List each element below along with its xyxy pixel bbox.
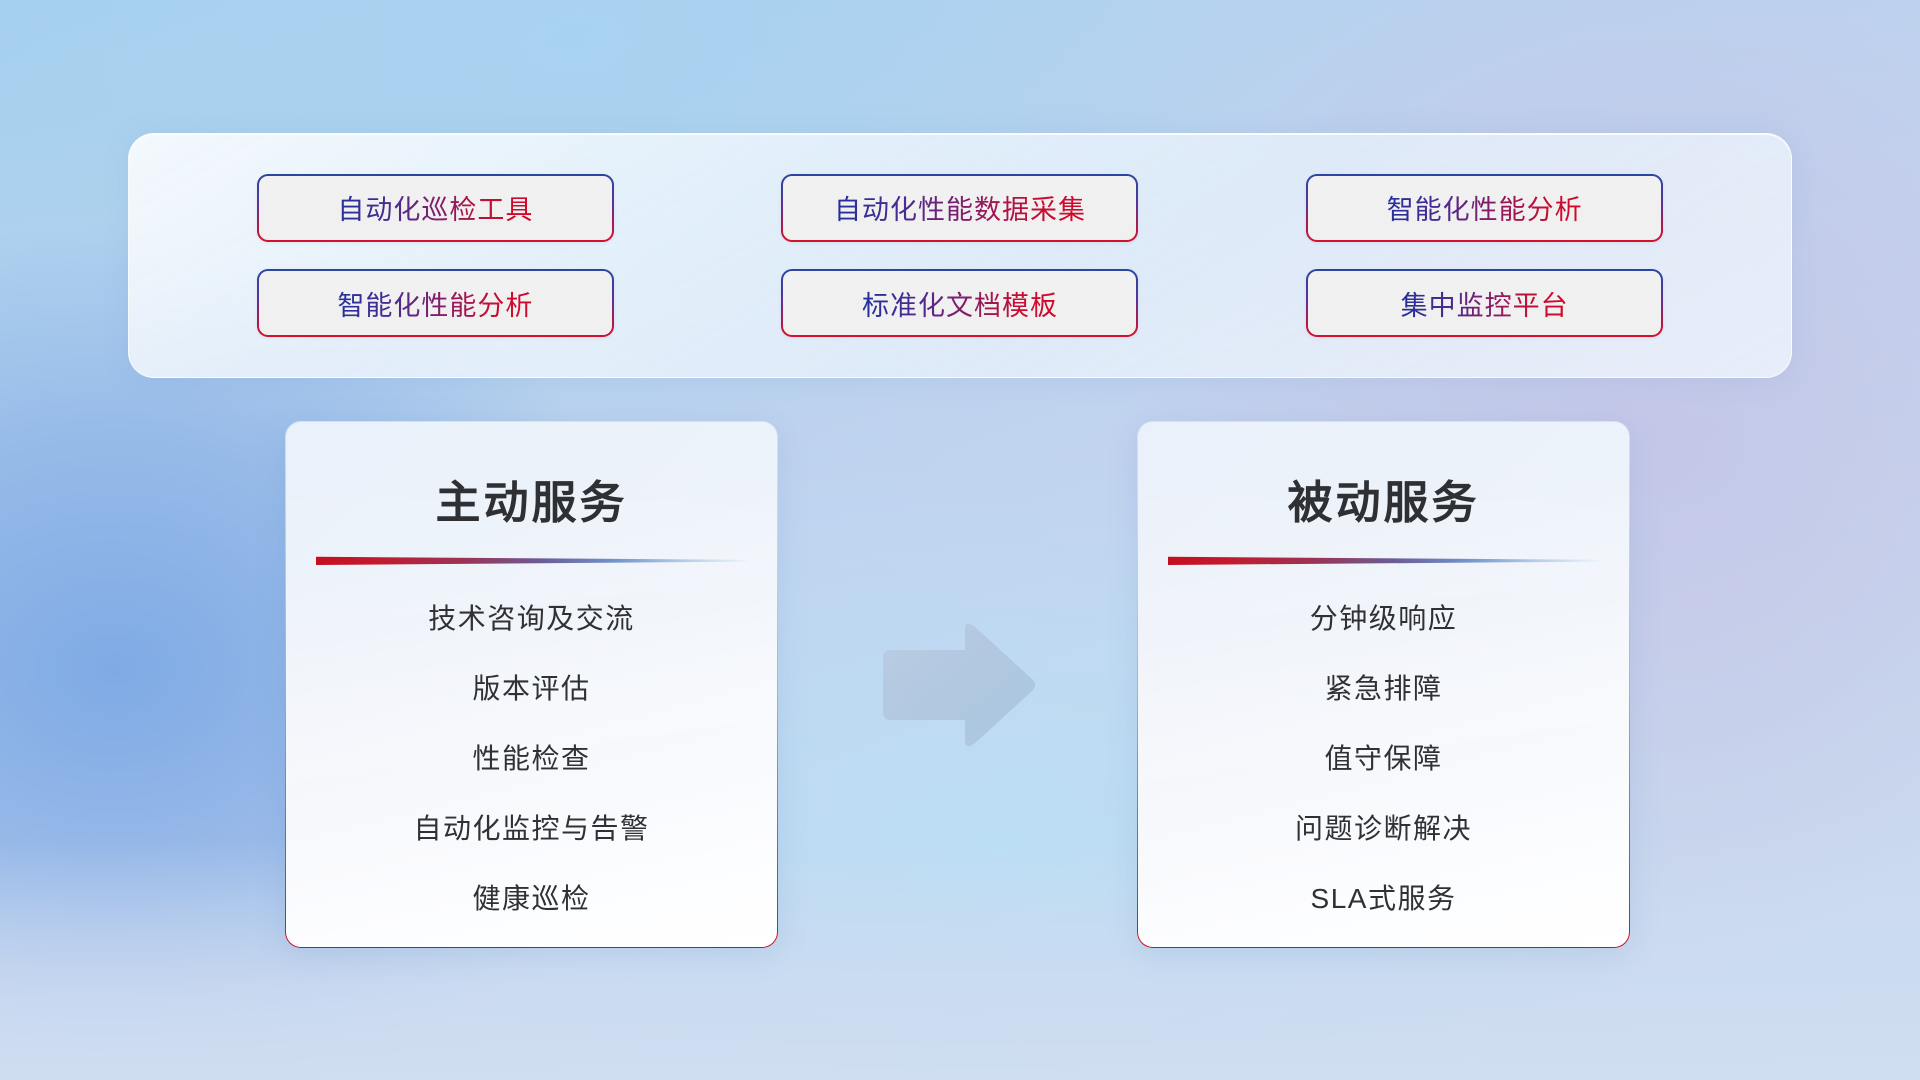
capability-tag[interactable]: 自动化性能数据采集 xyxy=(781,174,1138,242)
capability-tag[interactable]: 标准化文档模板 xyxy=(781,269,1138,337)
capability-tag[interactable]: 智能化性能分析 xyxy=(257,269,614,337)
list-item: 自动化监控与告警 xyxy=(286,815,777,885)
capability-tag-grid: 自动化巡检工具 自动化性能数据采集 智能化性能分析 智能化性能分析 标准化文档模… xyxy=(129,134,1791,377)
capability-tag-label: 智能化性能分析 xyxy=(1387,188,1583,227)
capability-tag[interactable]: 智能化性能分析 xyxy=(1306,174,1663,242)
card-divider-bar xyxy=(1168,555,1600,565)
capability-tag[interactable]: 集中监控平台 xyxy=(1306,269,1663,337)
card-title: 主动服务 xyxy=(286,422,777,531)
capability-tag-label: 自动化性能数据采集 xyxy=(834,188,1086,227)
service-card-reactive: 被动服务 分钟级响应 紧急排障 值守保障 问题诊断解决 SLA式服务 xyxy=(1137,421,1630,948)
list-item: 分钟级响应 xyxy=(1138,605,1629,675)
service-item-list: 分钟级响应 紧急排障 值守保障 问题诊断解决 SLA式服务 xyxy=(1138,565,1629,913)
list-item: 健康巡检 xyxy=(286,885,777,913)
capability-tag[interactable]: 自动化巡检工具 xyxy=(257,174,614,242)
list-item: 紧急排障 xyxy=(1138,675,1629,745)
list-item: 性能检查 xyxy=(286,745,777,815)
capability-tag-label: 标准化文档模板 xyxy=(862,284,1058,323)
card-divider xyxy=(1168,555,1600,565)
service-item-list: 技术咨询及交流 版本评估 性能检查 自动化监控与告警 健康巡检 xyxy=(286,565,777,913)
list-item: 问题诊断解决 xyxy=(1138,815,1629,885)
list-item: 技术咨询及交流 xyxy=(286,605,777,675)
card-divider-bar xyxy=(316,555,748,565)
arrow-right-icon xyxy=(873,620,1038,750)
list-item: 版本评估 xyxy=(286,675,777,745)
capability-tags-panel: 自动化巡检工具 自动化性能数据采集 智能化性能分析 智能化性能分析 标准化文档模… xyxy=(128,133,1792,378)
service-card-proactive: 主动服务 技术咨询及交流 版本评估 性能检查 自动化监控与告警 健康巡检 xyxy=(285,421,778,948)
capability-tag-label: 自动化巡检工具 xyxy=(337,188,533,227)
list-item: SLA式服务 xyxy=(1138,885,1629,913)
card-divider xyxy=(316,555,748,565)
list-item: 值守保障 xyxy=(1138,745,1629,815)
capability-tag-label: 集中监控平台 xyxy=(1401,284,1569,323)
card-title: 被动服务 xyxy=(1138,422,1629,531)
capability-tag-label: 智能化性能分析 xyxy=(337,284,533,323)
